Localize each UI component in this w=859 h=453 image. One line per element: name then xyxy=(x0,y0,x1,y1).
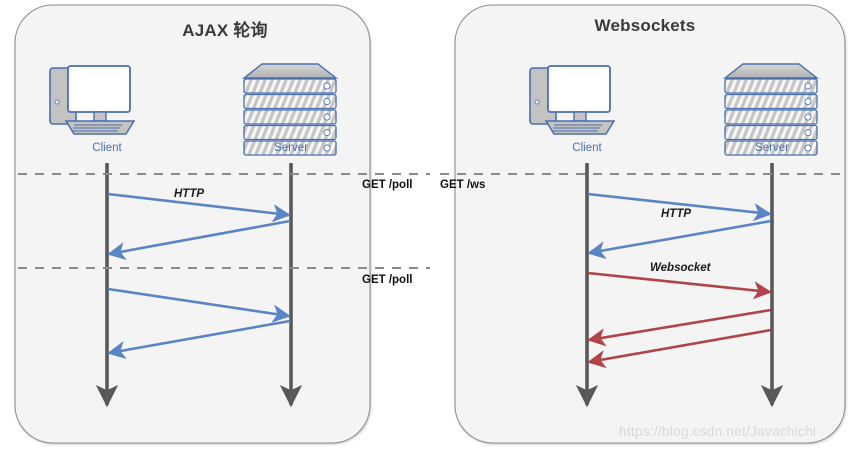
sequence-diagram-graphic xyxy=(0,0,859,453)
time-marker-label-get-ws: GET /ws xyxy=(440,179,485,191)
actor-label-client-websockets: Client xyxy=(557,142,617,154)
time-marker-label-get-poll-1: GET /poll xyxy=(362,179,412,191)
panel-ajax-polling xyxy=(15,5,430,443)
panel-title-ajax-polling: AJAX 轮询 xyxy=(60,16,390,41)
time-marker-label-get-poll-2: GET /poll xyxy=(362,274,412,286)
desktop-computer-icon xyxy=(50,66,134,134)
panel-websockets xyxy=(440,5,845,443)
desktop-computer-icon xyxy=(530,66,614,134)
panel-title-websockets: Websockets xyxy=(470,16,820,36)
diagram-canvas: AJAX 轮询 Websockets Client Server Client … xyxy=(0,0,859,453)
actor-label-server-ajax: Server xyxy=(261,142,321,154)
watermark-text: https://blog.csdn.net/Javachichi xyxy=(619,424,816,439)
message-label-http-websockets: HTTP xyxy=(661,208,691,220)
message-label-http-ajax: HTTP xyxy=(174,188,204,200)
actor-label-server-websockets: Server xyxy=(742,142,802,154)
actor-label-client-ajax: Client xyxy=(77,142,137,154)
message-label-websocket: Websocket xyxy=(650,262,711,274)
